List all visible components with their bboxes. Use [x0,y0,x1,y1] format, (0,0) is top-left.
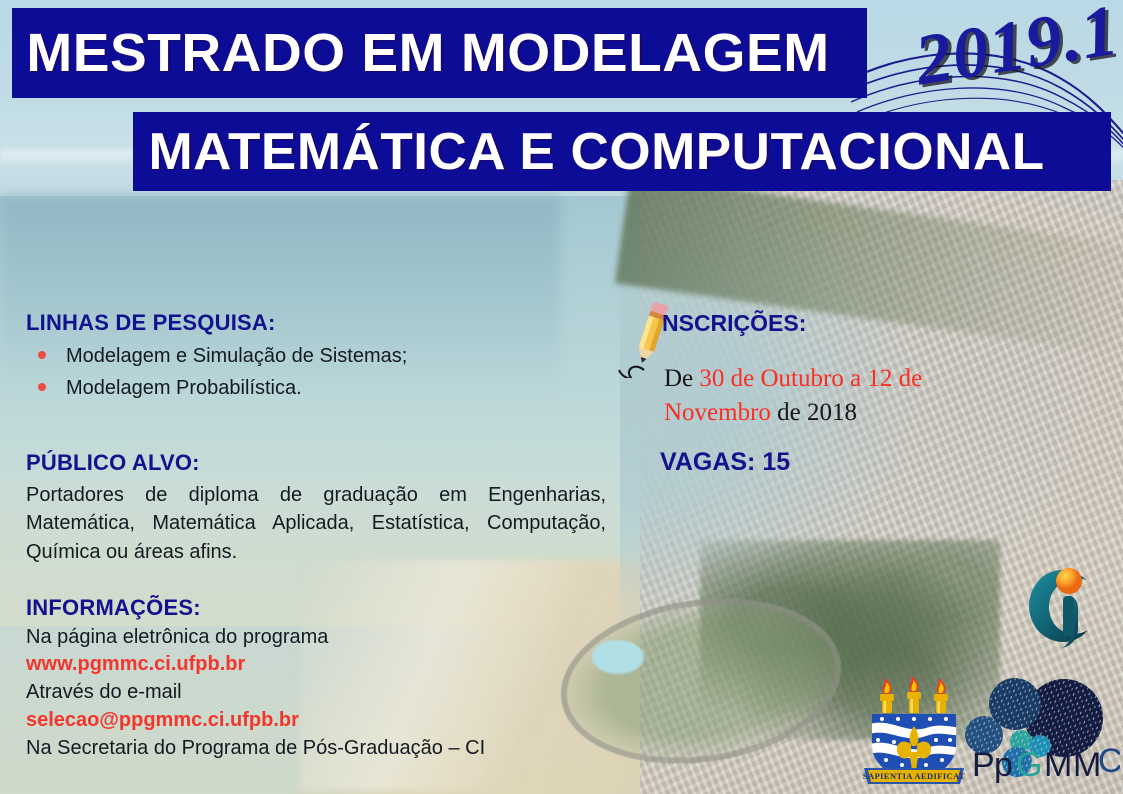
list-item: Modelagem Probabilística. [26,374,506,402]
bullet-icon [38,383,46,391]
svg-text:p: p [994,746,1013,784]
poster-title-line2: MATEMÁTICA E COMPUTACIONAL [124,122,1045,182]
ci-logo [1016,556,1112,660]
research-lines-section: LINHAS DE PESQUISA: Modelagem e Simulaçã… [26,310,506,407]
registration-dates: De 30 de Outubro a 12 de Novembro de 201… [664,362,964,430]
website-link[interactable]: www.pgmmc.ci.ufpb.br [26,653,586,676]
slots-label: VAGAS: 15 [660,448,790,477]
target-audience-heading: PÚBLICO ALVO: [26,450,606,476]
email-link[interactable]: selecao@ppgmmc.ci.ufpb.br [26,709,586,732]
title-bar-line1: MESTRADO EM MODELAGEM [12,8,867,98]
ppgmmc-logo: P p G M M C [960,672,1120,792]
svg-text:M: M [1044,746,1072,784]
registration-section: NSCRIÇÕES: De 30 de Outubro a 12 de Nove… [640,310,980,430]
target-audience-paragraph: Portadores de diploma de graduação em En… [26,481,606,566]
ufpb-coat-of-arms-logo: SAPIENTIA AEDIFICAT [862,672,966,790]
svg-text:SAPIENTIA AEDIFICAT: SAPIENTIA AEDIFICAT [863,771,965,781]
research-line-label: Modelagem e Simulação de Sistemas; [66,345,407,367]
research-line-label: Modelagem Probabilística. [66,377,302,399]
registration-heading-row: NSCRIÇÕES: [640,310,980,344]
registration-heading: NSCRIÇÕES: [662,310,806,337]
svg-text:P: P [972,746,995,784]
poster-title-line1: MESTRADO EM MODELAGEM [4,22,830,84]
research-lines-heading: LINHAS DE PESQUISA: [26,310,506,336]
information-heading: INFORMAÇÕES: [26,595,586,621]
information-section: INFORMAÇÕES: Na página eletrônica do pro… [26,595,586,762]
svg-text:C: C [1098,742,1120,780]
list-item: Modelagem e Simulação de Sistemas; [26,342,506,370]
title-bar-line2: MATEMÁTICA E COMPUTACIONAL [133,112,1111,191]
date-suffix: de 2018 [771,399,857,426]
bullet-icon [38,351,46,359]
information-line-1: Na página eletrônica do programa [26,623,586,651]
research-lines-list: Modelagem e Simulação de Sistemas; Model… [26,342,506,403]
poster: MESTRADO EM MODELAGEM MATEMÁTICA E COMPU… [0,0,1123,794]
target-audience-section: PÚBLICO ALVO: Portadores de diploma de g… [26,450,606,566]
information-line-2: Através do e-mail [26,678,586,706]
information-line-3: Na Secretaria do Programa de Pós-Graduaç… [26,734,586,762]
svg-text:G: G [1016,746,1042,784]
